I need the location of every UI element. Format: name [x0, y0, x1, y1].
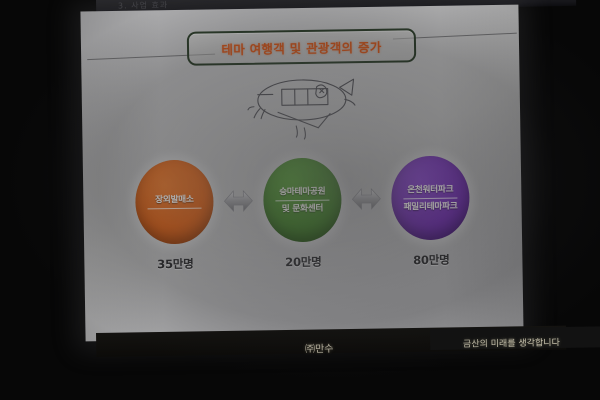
node-1-count: 35만명 [157, 256, 194, 273]
node-2-line-2: 및 문화센터 [282, 202, 324, 215]
node-3-divider [403, 197, 457, 199]
node-bubble-1[interactable]: 장외발매소 [135, 159, 214, 244]
projected-slide: 테마 여행객 및 관광객의 증가 장외발매소 35만명 [80, 5, 523, 342]
node-2-divider [275, 199, 329, 201]
node-2-count: 20만명 [285, 254, 322, 271]
footer-tagline: 금산의 미래를 생각합니다 [463, 335, 560, 350]
slide-title-box: 테마 여행객 및 관광객의 증가 [187, 28, 417, 66]
footer-company: ㈜만수 [305, 340, 334, 355]
node-row: 장외발매소 35만명 승마테마공원 및 문화 [99, 155, 507, 291]
connector-1 [220, 159, 257, 244]
node-3-count: 80만명 [413, 252, 450, 269]
node-3-line-2: 패밀리테마파크 [403, 200, 457, 213]
double-arrow-icon [351, 186, 381, 212]
node-bubble-2[interactable]: 승마테마공원 및 문화센터 [263, 157, 342, 242]
double-arrow-icon [223, 188, 253, 214]
node-column-2: 승마테마공원 및 문화센터 20만명 [256, 157, 350, 270]
node-2-line-1: 승마테마공원 [279, 185, 325, 198]
node-column-3: 온천워터파크 패밀리테마파크 80만명 [384, 155, 478, 268]
slide-title-text: 테마 여행객 및 관광객의 증가 [221, 36, 381, 58]
node-1-line-1: 장외발매소 [155, 193, 194, 206]
node-column-1: 장외발매소 35만명 [128, 159, 222, 272]
node-1-divider [148, 207, 202, 209]
node-3-line-1: 온천워터파크 [407, 183, 453, 196]
airplane-icon [231, 69, 372, 141]
node-bubble-3[interactable]: 온천워터파크 패밀리테마파크 [391, 155, 470, 240]
connector-2 [348, 157, 385, 242]
